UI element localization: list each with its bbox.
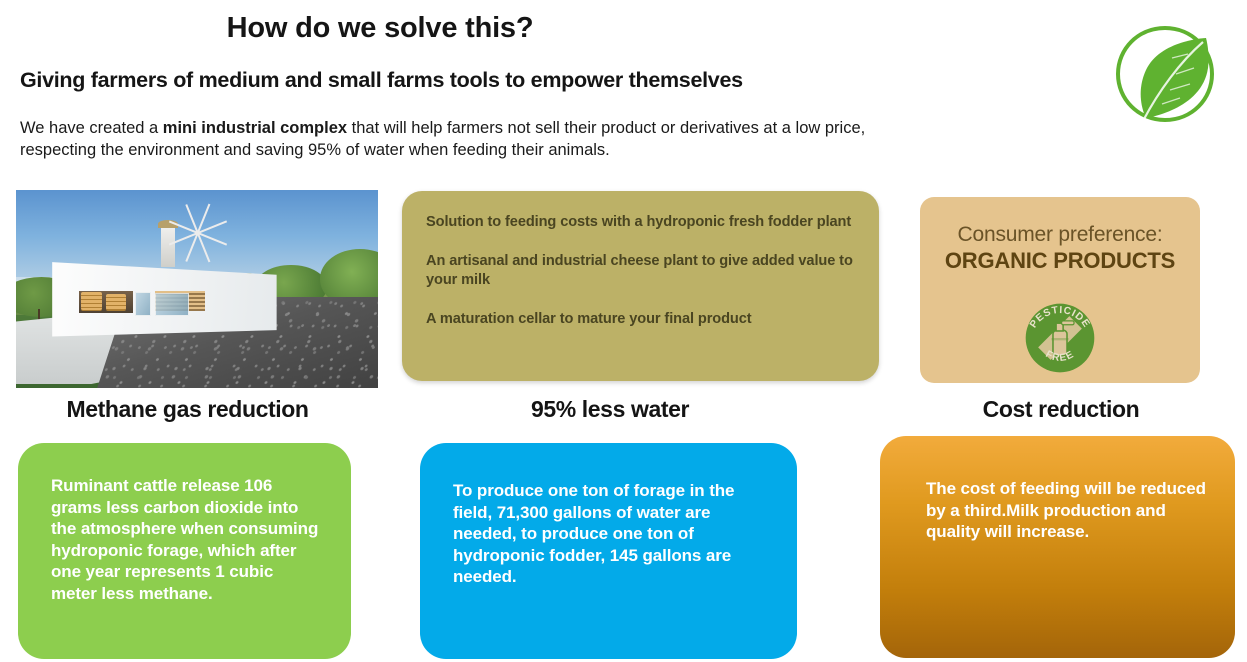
pesticide-free-badge-icon: PESTICIDE FREE (1021, 299, 1099, 377)
slide-canvas: How do we solve this? Giving farmers of … (0, 0, 1247, 662)
consumer-preference-panel: Consumer preference: ORGANIC PRODUCTS PE… (920, 197, 1200, 383)
organic-products-label: ORGANIC PRODUCTS (920, 248, 1200, 274)
list-item: A maturation cellar to mature your final… (426, 310, 857, 329)
water-card: To produce one ton of forage in the fiel… (420, 443, 797, 659)
intro-text-before: We have created a (20, 119, 163, 137)
cost-card: The cost of feeding will be reduced by a… (880, 436, 1235, 658)
leaf-logo-icon (1110, 22, 1220, 127)
cheese-stack (81, 292, 101, 309)
column-caption-methane: Methane gas reduction (16, 396, 359, 423)
methane-card-text: Ruminant cattle release 106 grams less c… (18, 443, 351, 604)
list-item: An artisanal and industrial cheese plant… (426, 252, 857, 290)
solutions-list: Solution to feeding costs with a hydropo… (402, 191, 879, 329)
intro-paragraph: We have created a mini industrial comple… (20, 117, 920, 161)
methane-card: Ruminant cattle release 106 grams less c… (18, 443, 351, 659)
water-card-text: To produce one ton of forage in the fiel… (420, 443, 797, 588)
solutions-panel: Solution to feeding costs with a hydropo… (402, 191, 879, 381)
column-caption-cost: Cost reduction (880, 396, 1242, 423)
cheese-stack (106, 294, 126, 310)
column-caption-water: 95% less water (420, 396, 800, 423)
list-item: Solution to feeding costs with a hydropo… (426, 213, 857, 232)
intro-text-bold: mini industrial complex (163, 119, 347, 137)
glass-wall (155, 293, 188, 316)
logo: Greenfield Hydroponics Global (1110, 22, 1220, 127)
cost-card-text: The cost of feeding will be reduced by a… (880, 436, 1235, 543)
consumer-preference-label: Consumer preference: (920, 197, 1200, 247)
facility-render-image (16, 190, 378, 388)
windmill-tower (161, 224, 175, 268)
page-subtitle: Giving farmers of medium and small farms… (20, 68, 950, 93)
page-title: How do we solve this? (0, 12, 760, 45)
glass-door (135, 292, 150, 316)
